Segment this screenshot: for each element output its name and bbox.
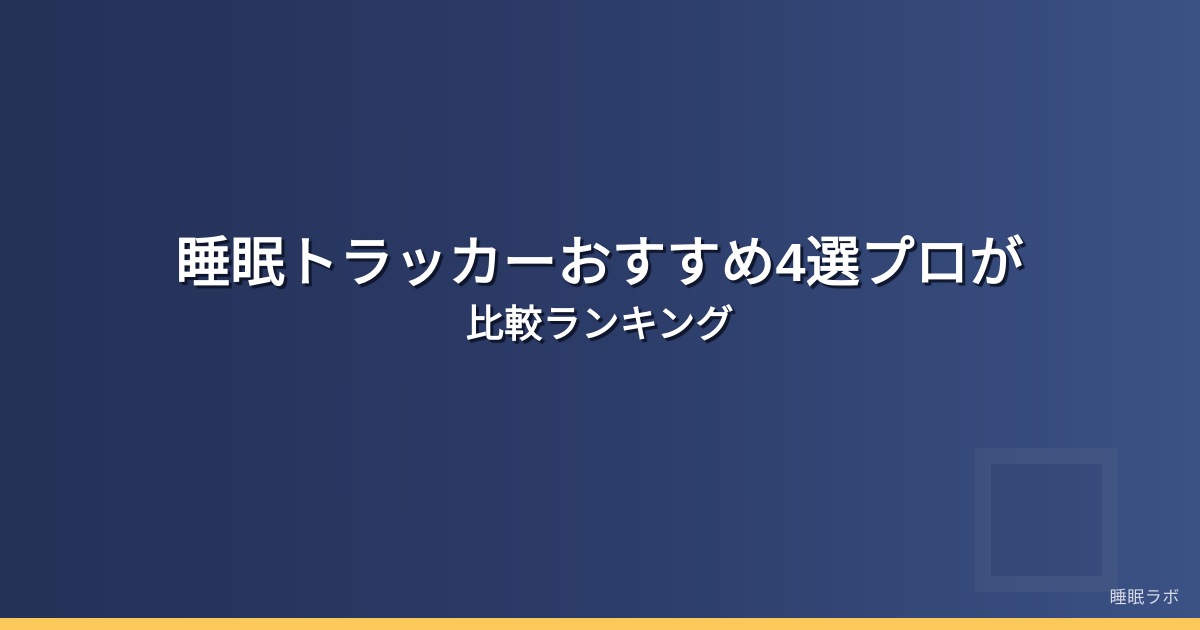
headline-line-primary: 睡眠トラッカーおすすめ4選プロが — [176, 232, 1024, 294]
og-image-card: 睡眠トラッカーおすすめ4選プロが 比較ランキング 睡眠ラボ — [0, 0, 1200, 630]
bottom-accent-bar — [0, 618, 1200, 630]
headline-line-secondary: 比較ランキング — [466, 302, 734, 350]
site-name-watermark: 睡眠ラボ — [1110, 583, 1180, 608]
headline-block: 睡眠トラッカーおすすめ4選プロが 比較ランキング — [0, 0, 1200, 630]
